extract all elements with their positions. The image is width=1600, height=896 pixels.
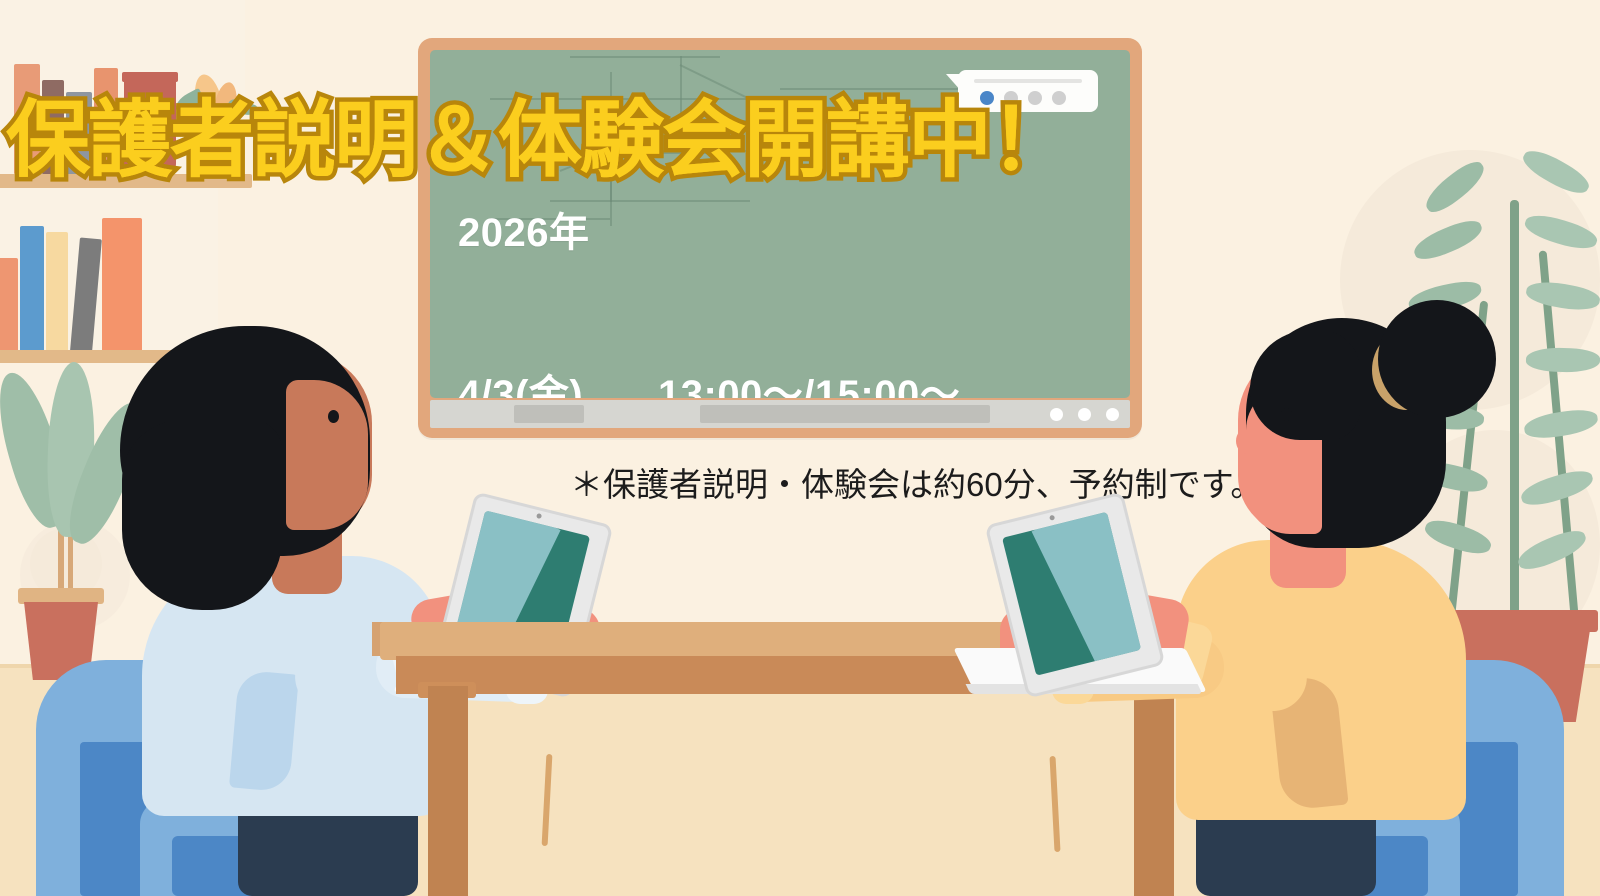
plant-right-stem-1 [1510, 200, 1519, 650]
poster-canvas: 2026年 4/3(金) 13:00～/15:00～ 4/11(土) 15:30… [0, 0, 1600, 896]
table-leg-left [428, 686, 468, 896]
shelf-book-1 [0, 258, 18, 352]
poster-note: ＊保護者説明・体験会は約60分、予約制です。 [570, 458, 1263, 506]
shelf-book-5 [102, 218, 142, 352]
chalk-tray [430, 400, 1130, 428]
person-left-eye [328, 410, 339, 423]
schedule-times-0: 13:00～/15:00～ [658, 368, 960, 398]
chalk-piece-2 [1078, 408, 1091, 421]
chalk-piece-1 [1050, 408, 1063, 421]
card-title-line [974, 79, 1082, 83]
person-left-face-front [286, 380, 368, 530]
keyboard-right-edge [966, 684, 1203, 694]
person-right-hair-bun [1378, 300, 1496, 418]
chalk-piece-3 [1106, 408, 1119, 421]
shelf-book-3 [46, 232, 68, 352]
blackboard-year: 2026年 [458, 206, 589, 260]
table-leg-right [1134, 686, 1174, 896]
shelf-vase-rim [122, 72, 178, 82]
chalk-box [700, 405, 990, 423]
chair-left-panel [80, 742, 146, 896]
plant-left-pot-rim [18, 588, 104, 604]
poster-title: 保護者説明＆体験会開講中！ [6, 92, 1186, 188]
chalk-diagram-line-1 [570, 56, 720, 58]
eraser [514, 405, 584, 423]
shelf-book-2 [20, 226, 44, 352]
person-left-hair-back [122, 420, 282, 610]
blackboard-year-row: 2026年 [458, 206, 1117, 260]
schedule-row-0: 4/3(金) 13:00～/15:00～ [458, 368, 1117, 398]
plant-right-pot-rim [1440, 610, 1598, 632]
person-right-eye [1281, 408, 1292, 421]
schedule-date-0: 4/3(金) [458, 368, 658, 398]
